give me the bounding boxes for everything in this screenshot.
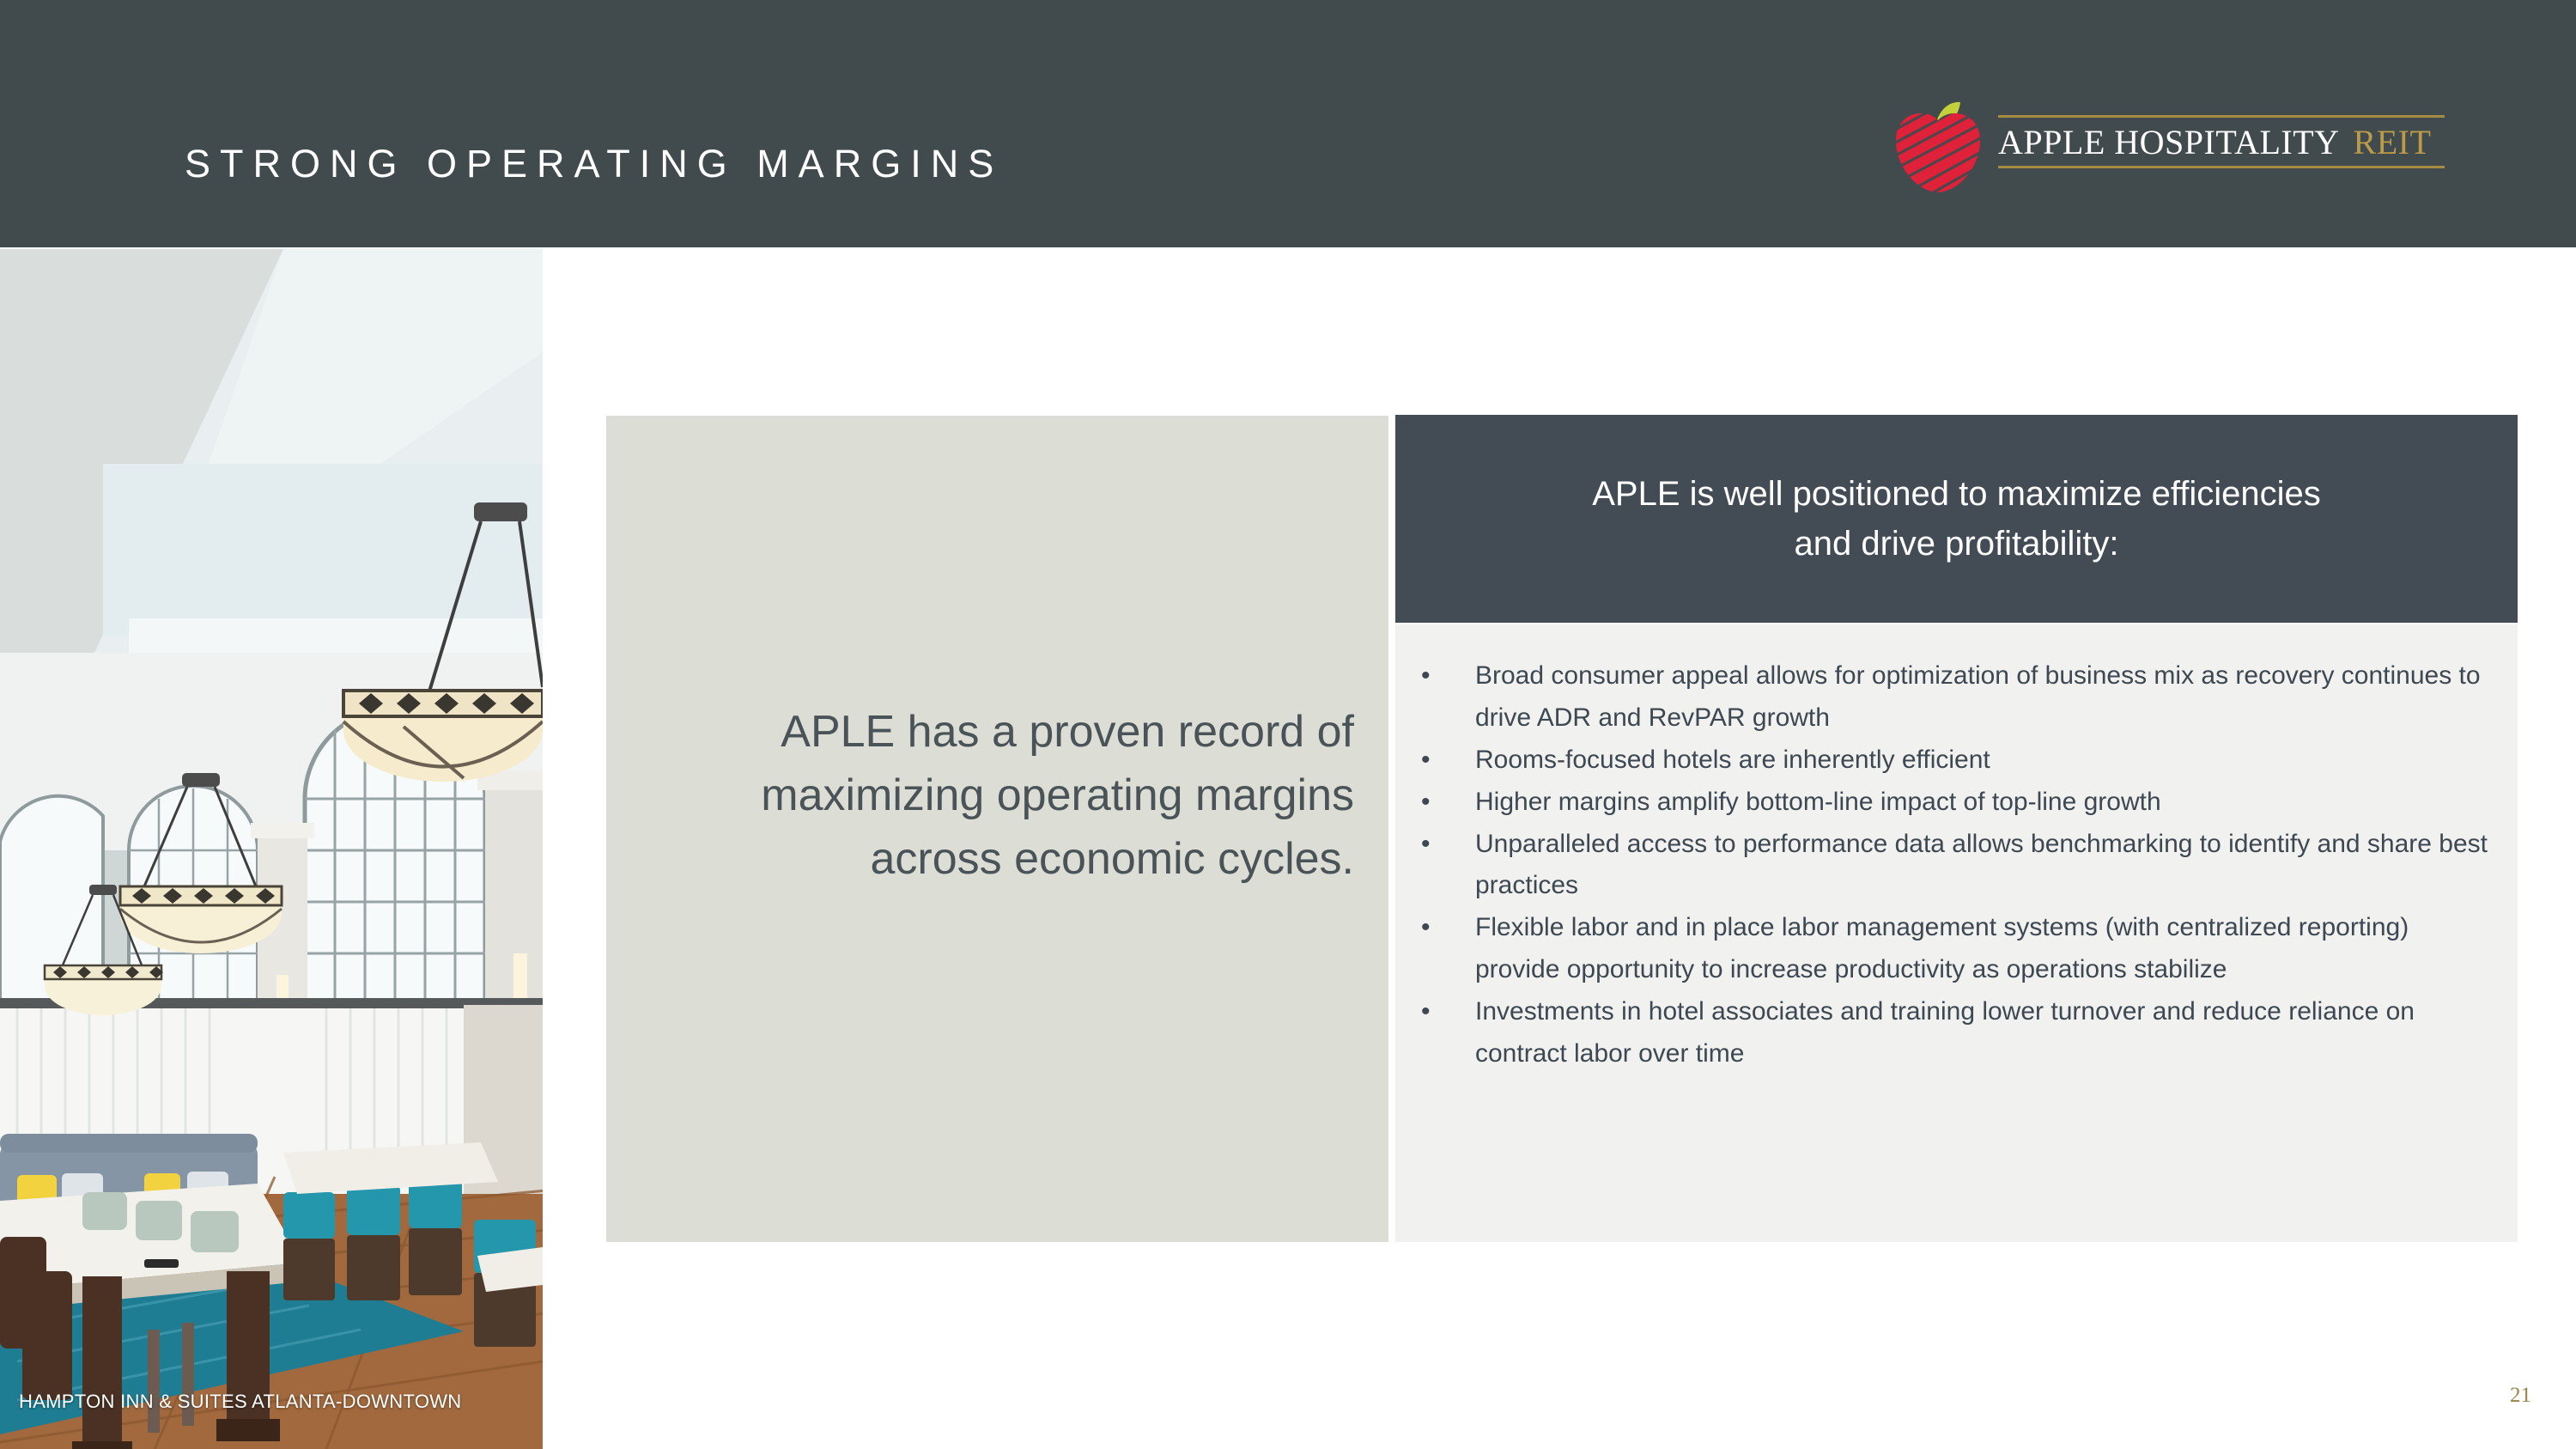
statement-panel: APLE has a proven record of maximizing o… bbox=[606, 416, 1388, 1242]
logo-brand-primary: APPLE HOSPITALITY bbox=[1998, 122, 2340, 162]
hotel-photo-illustration bbox=[0, 249, 543, 1449]
presentation-slide: STRONG OPERATING MARGINS bbox=[0, 0, 2576, 1449]
bullet-marker-icon: • bbox=[1421, 655, 1431, 697]
bullet-marker-icon: • bbox=[1421, 782, 1431, 824]
bullet-marker-icon: • bbox=[1421, 991, 1431, 1033]
list-item: • Higher margins amplify bottom-line imp… bbox=[1395, 782, 2518, 824]
list-item-text: Broad consumer appeal allows for optimiz… bbox=[1475, 661, 2481, 732]
photo-caption: HAMPTON INN & SUITES ATLANTA-DOWNTOWN bbox=[19, 1391, 462, 1413]
list-item-text: Higher margins amplify bottom-line impac… bbox=[1475, 788, 2161, 816]
logo-rule-bottom bbox=[1998, 166, 2445, 168]
slide-header-bar: STRONG OPERATING MARGINS bbox=[0, 0, 2576, 247]
list-item: • Unparalleled access to performance dat… bbox=[1395, 824, 2518, 908]
statement-text: APLE has a proven record of maximizing o… bbox=[676, 701, 1354, 891]
callout-heading-line2: and drive profitability: bbox=[1592, 519, 2321, 569]
list-item: • Flexible labor and in place labor mana… bbox=[1395, 907, 2518, 991]
page-number: 21 bbox=[2510, 1384, 2531, 1408]
callout-column: APLE is well positioned to maximize effi… bbox=[1395, 415, 2518, 1242]
logo-wordmark: APPLE HOSPITALITY REIT bbox=[1998, 115, 2445, 168]
callout-body-panel: • Broad consumer appeal allows for optim… bbox=[1395, 624, 2518, 1242]
bullet-marker-icon: • bbox=[1421, 824, 1431, 866]
hotel-photo: HAMPTON INN & SUITES ATLANTA-DOWNTOWN bbox=[0, 249, 543, 1449]
list-item-text: Rooms-focused hotels are inherently effi… bbox=[1475, 746, 1990, 774]
company-logo: APPLE HOSPITALITY REIT bbox=[1893, 96, 2443, 198]
logo-brand-secondary: REIT bbox=[2354, 122, 2432, 162]
list-item: • Rooms-focused hotels are inherently ef… bbox=[1395, 740, 2518, 782]
list-item: • Broad consumer appeal allows for optim… bbox=[1395, 655, 2518, 740]
callout-heading: APLE is well positioned to maximize effi… bbox=[1540, 469, 2372, 569]
list-item-text: Flexible labor and in place labor manage… bbox=[1475, 913, 2409, 983]
callout-heading-panel: APLE is well positioned to maximize effi… bbox=[1395, 415, 2518, 623]
apple-logo-icon bbox=[1893, 101, 1984, 194]
list-item-text: Unparalleled access to performance data … bbox=[1475, 830, 2488, 900]
list-item: • Investments in hotel associates and tr… bbox=[1395, 991, 2518, 1075]
benefits-bullet-list: • Broad consumer appeal allows for optim… bbox=[1395, 655, 2518, 1075]
list-item-text: Investments in hotel associates and trai… bbox=[1475, 997, 2415, 1068]
bullet-marker-icon: • bbox=[1421, 907, 1431, 949]
bullet-marker-icon: • bbox=[1421, 740, 1431, 782]
page-title: STRONG OPERATING MARGINS bbox=[185, 144, 1003, 183]
callout-heading-line1: APLE is well positioned to maximize effi… bbox=[1592, 469, 2321, 519]
